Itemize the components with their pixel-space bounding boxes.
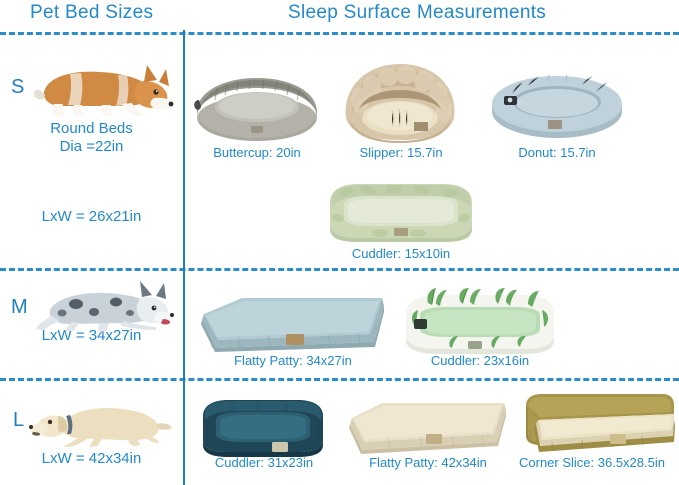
bed-corner-slice bbox=[512, 390, 676, 456]
caption-buttercup: Buttercup: 20in bbox=[183, 145, 331, 160]
bed-cuddler-large bbox=[198, 392, 328, 458]
small-round-beds-label: Round Beds bbox=[0, 120, 183, 137]
caption-flatty-patty-large: Flatty Patty: 42x34in bbox=[341, 455, 515, 470]
bed-slipper bbox=[336, 56, 464, 144]
large-lxw-label: LxW = 42x34in bbox=[0, 450, 183, 467]
small-diameter-label: Dia =22in bbox=[0, 138, 183, 155]
caption-corner-slice: Corner Slice: 36.5x28.5in bbox=[505, 455, 679, 470]
page-title-left: Pet Bed Sizes bbox=[30, 2, 153, 24]
caption-cuddler-large: Cuddler: 31x23in bbox=[190, 455, 338, 470]
bed-flatty-patty-large bbox=[348, 398, 508, 456]
caption-slipper: Slipper: 15.7in bbox=[331, 145, 471, 160]
caption-flatty-patty-medium: Flatty Patty: 34x27in bbox=[190, 353, 396, 368]
small-lxw-label: LxW = 26x21in bbox=[0, 208, 183, 225]
caption-cuddler-small: Cuddler: 15x10in bbox=[315, 246, 487, 261]
bed-donut bbox=[490, 62, 624, 142]
pet-bed-size-chart: Pet Bed Sizes Sleep Surface Measurements… bbox=[0, 0, 679, 485]
bed-buttercup bbox=[193, 60, 321, 142]
row-divider-s-m bbox=[0, 268, 679, 271]
header-divider bbox=[0, 32, 679, 35]
size-letter-l: L bbox=[13, 409, 24, 432]
size-letter-m: M bbox=[11, 296, 28, 319]
caption-cuddler-medium: Cuddler: 23x16in bbox=[398, 353, 562, 368]
caption-donut: Donut: 15.7in bbox=[487, 145, 627, 160]
dog-illustration-border-collie bbox=[30, 278, 180, 334]
bed-flatty-patty-medium bbox=[198, 292, 388, 357]
dog-illustration-corgi bbox=[26, 58, 176, 120]
row-divider-m-l bbox=[0, 378, 679, 381]
bed-cuddler-medium bbox=[400, 285, 560, 357]
bed-cuddler-small bbox=[322, 172, 480, 244]
size-letter-s: S bbox=[11, 76, 24, 99]
column-divider bbox=[183, 30, 185, 485]
dog-illustration-labrador bbox=[24, 396, 174, 448]
page-title-right: Sleep Surface Measurements bbox=[288, 2, 546, 24]
